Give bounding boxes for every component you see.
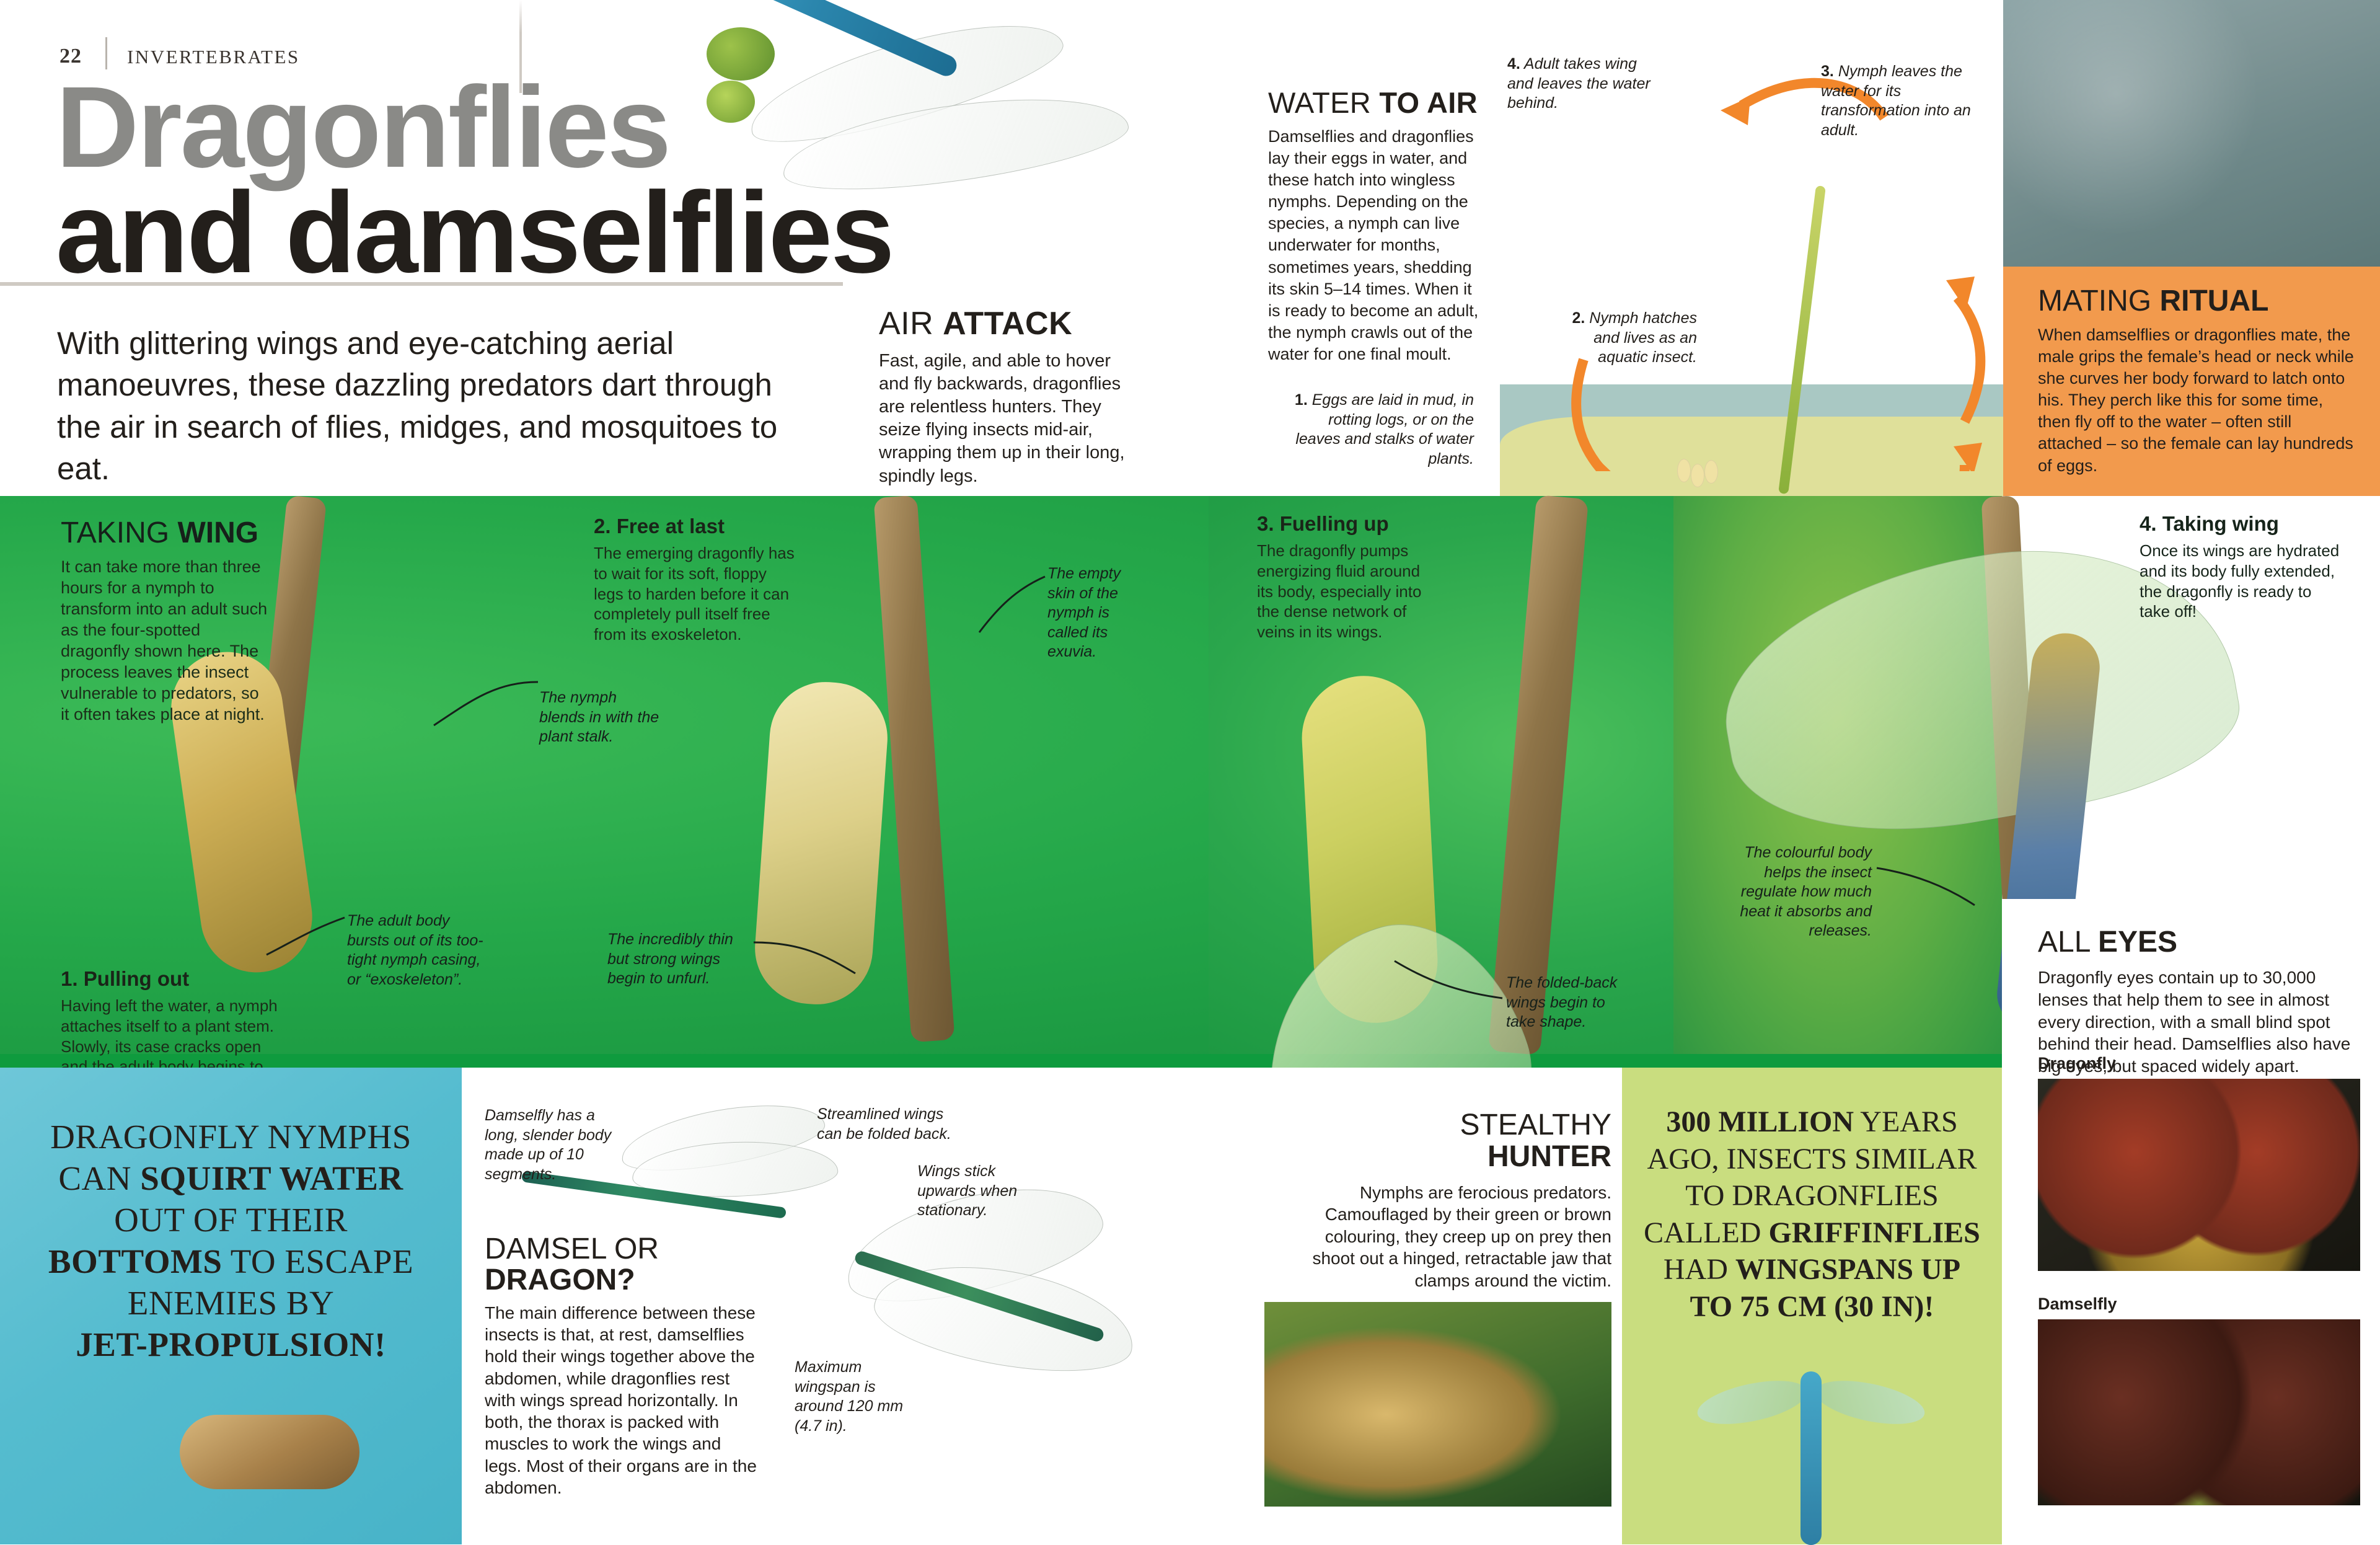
- blue-fact-line2: CAN SQUIRT WATER: [25, 1158, 437, 1199]
- photo-damselfly-eyes: [2038, 1319, 2360, 1505]
- blue-fact-text: DRAGONFLY NYMPHS CAN SQUIRT WATER OUT OF…: [25, 1116, 437, 1366]
- dragonfly-thorax: [707, 27, 775, 81]
- mating-photo: [2003, 0, 2380, 267]
- label-streamlined-wings: Streamlined wings can be folded back.: [817, 1105, 959, 1144]
- cycle-step-1: 1. Eggs are laid in mud, in rotting logs…: [1288, 391, 1474, 469]
- mating-ritual-body: When damselflies or dragonflies mate, th…: [2038, 324, 2360, 477]
- cycle-step-2: 2. Nymph hatches and lives as an aquatic…: [1542, 309, 1697, 368]
- stealthy-hunter-text: STEALTHYHUNTER Nymphs are ferocious pred…: [1295, 1110, 1611, 1291]
- green-fact-line3: TO DRAGONFLIES: [1641, 1177, 1983, 1215]
- intro-paragraph: With glittering wings and eye-catching a…: [57, 322, 801, 489]
- griffinfly-wing: [1812, 1373, 1929, 1432]
- leader-lines: [0, 496, 2002, 1054]
- mating-ritual-text: MATING RITUAL When damselflies or dragon…: [2038, 284, 2360, 477]
- griffinfly-silhouette: [1734, 1359, 1889, 1545]
- dragonfly-illustration: [707, 6, 1227, 329]
- water-to-air-body: Damselflies and dragonflies lay their eg…: [1268, 126, 1479, 365]
- griffinfly-wing: [1694, 1373, 1811, 1432]
- blue-fact-line6: JET-PROPULSION!: [25, 1324, 437, 1365]
- nymph-silhouette: [180, 1415, 359, 1489]
- blue-fact-line1: DRAGONFLY NYMPHS: [25, 1116, 437, 1158]
- dragonfly-head: [707, 81, 755, 123]
- green-fact-line6: TO 75 CM (30 IN)!: [1641, 1288, 1983, 1326]
- green-fact-text: 300 MILLION YEARS AGO, INSECTS SIMILAR T…: [1641, 1104, 1983, 1325]
- all-eyes-heading: ALL EYES: [2038, 925, 2360, 959]
- air-attack-block: AIR ATTACK Fast, agile, and able to hove…: [879, 305, 1139, 488]
- label-long-body: Damselfly has a long, slender body made …: [485, 1106, 621, 1184]
- label-wings-stick-up: Wings stick upwards when stationary.: [917, 1162, 1041, 1221]
- green-fact-panel: 300 MILLION YEARS AGO, INSECTS SIMILAR T…: [1622, 1068, 2002, 1544]
- step-4-body: Once its wings are hydrated and its body…: [2140, 541, 2344, 622]
- mating-ritual-heading: MATING RITUAL: [2038, 284, 2360, 318]
- caption-damselfly: Damselfly: [2038, 1295, 2117, 1314]
- air-attack-body: Fast, agile, and able to hover and fly b…: [879, 350, 1139, 488]
- stealthy-hunter-heading: STEALTHYHUNTER: [1295, 1110, 1611, 1173]
- step-4-title: 4. Taking wing: [2140, 512, 2344, 536]
- air-attack-heading: AIR ATTACK: [879, 305, 1139, 342]
- blue-fact-line5: ENEMIES BY: [25, 1282, 437, 1324]
- stealthy-hunter-body: Nymphs are ferocious predators. Camoufla…: [1295, 1182, 1611, 1292]
- green-fact-line5: HAD WINGSPANS UP: [1641, 1251, 1983, 1288]
- blue-fact-panel: DRAGONFLY NYMPHS CAN SQUIRT WATER OUT OF…: [0, 1068, 462, 1544]
- book-spread: 22 INVERTEBRATES Dragonflies and damself…: [0, 0, 2380, 1544]
- green-fact-line1: 300 MILLION YEARS: [1641, 1104, 1983, 1141]
- photo-nymph-hunting: [1264, 1302, 1611, 1507]
- step-4-block: 4. Taking wing Once its wings are hydrat…: [2140, 512, 2344, 622]
- water-to-air-heading: WATER TO AIR: [1268, 86, 1479, 120]
- caption-dragonfly: Dragonfly: [2038, 1054, 2116, 1073]
- damsel-or-dragon-body: The main difference between these insect…: [485, 1302, 757, 1499]
- blue-fact-line3: OUT OF THEIR: [25, 1199, 437, 1241]
- damsel-or-dragon-heading: DAMSEL ORDRAGON?: [485, 1234, 757, 1296]
- cycle-step-3: 3. Nymph leaves the water for its transf…: [1821, 62, 1988, 140]
- green-fact-line4: CALLED GRIFFINFLIES: [1641, 1215, 1983, 1252]
- water-to-air-block: WATER TO AIR Damselflies and dragonflies…: [1268, 86, 1479, 365]
- green-fact-line2: AGO, INSECTS SIMILAR: [1641, 1141, 1983, 1178]
- cycle-step-4: 4. Adult takes wing and leaves the water…: [1507, 55, 1662, 113]
- green-band-edge: [0, 1054, 2002, 1068]
- damsel-or-dragon-text: DAMSEL ORDRAGON? The main difference bet…: [485, 1234, 757, 1499]
- label-max-wingspan: Maximum wingspan is around 120 mm (4.7 i…: [795, 1358, 906, 1436]
- griffinfly-body: [1800, 1371, 1822, 1545]
- blue-fact-line4: BOTTOMS TO ESCAPE: [25, 1241, 437, 1282]
- page-title-line1: Dragonflies: [56, 74, 669, 180]
- photo-dragonfly-eyes: [2038, 1079, 2360, 1271]
